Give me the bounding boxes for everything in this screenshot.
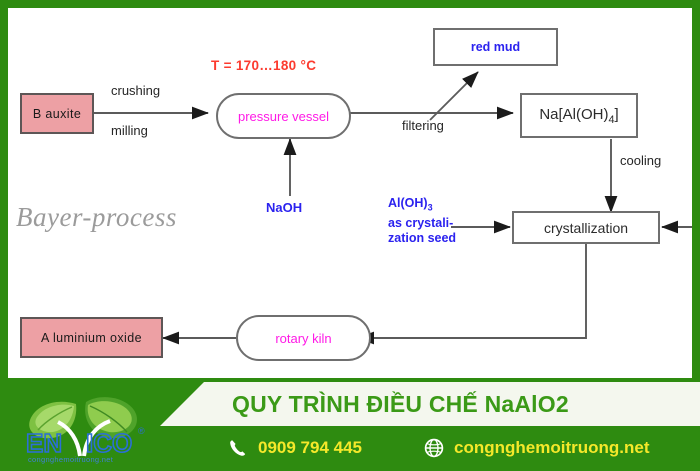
page-root: Bayer-process B auxite crushing milling … [0,0,700,467]
node-red-mud[interactable]: red mud [433,28,558,66]
logo-letters-left: EN [26,428,62,458]
label-filtering: filtering [402,118,444,133]
phone-icon [228,438,248,458]
label-naoh: NaOH [266,200,302,215]
node-crystallization[interactable]: crystallization [512,211,660,244]
envico-logo-graphic: EN ICO ® congnghemoitruong.net [14,382,162,466]
label-crystallization-seed: Al(OH)3 as crystali- zation seed [388,196,456,246]
diagram-canvas: Bayer-process B auxite crushing milling … [8,8,692,378]
seed-formula-sub: 3 [428,203,433,213]
edge-crystallization-to-rotary-kiln [358,243,586,338]
node-pressure-vessel[interactable]: pressure vessel [216,93,351,139]
logo-tagline: congnghemoitruong.net [28,455,114,464]
aluminate-formula-tail: ] [615,106,619,123]
node-aluminium-oxide[interactable]: A luminium oxide [20,317,163,358]
globe-icon [424,438,444,458]
seed-line-1: Al(OH)3 [388,196,456,216]
watermark-bayer-process: Bayer-process [16,202,177,233]
seed-line-3: zation seed [388,231,456,246]
node-bauxite-label: B auxite [33,107,81,121]
node-rotary-kiln[interactable]: rotary kiln [236,315,371,361]
seed-line-2: as crystali- [388,216,456,231]
website-contact[interactable]: congnghemoitruong.net [424,438,649,458]
label-temperature: T = 170…180 °C [211,58,316,73]
envico-logo[interactable]: EN ICO ® congnghemoitruong.net [14,382,162,466]
node-sodium-aluminate[interactable]: Na[Al(OH)4] [520,93,638,138]
banner-title: QUY TRÌNH ĐIỀU CHẾ NaAlO2 [232,391,569,418]
node-aluminium-oxide-label: A luminium oxide [41,331,142,345]
phone-contact[interactable]: 0909 794 445 [228,438,362,458]
node-bauxite[interactable]: B auxite [20,93,94,134]
bottom-banner: EN ICO ® congnghemoitruong.net QUY TRÌNH… [0,378,700,467]
logo-letters-right: ICO [86,428,132,458]
label-milling: milling [111,123,148,138]
aluminate-formula-main: Na[Al(OH) [539,106,608,123]
node-rotary-kiln-label: rotary kiln [275,331,331,346]
banner-title-band: QUY TRÌNH ĐIỀU CHẾ NaAlO2 [160,382,700,426]
logo-trademark-icon: ® [138,426,145,436]
node-red-mud-label: red mud [471,40,520,54]
banner-contact-row: 0909 794 445 congnghemoitruong.net [160,430,700,466]
seed-formula-main: Al(OH) [388,196,428,210]
phone-number: 0909 794 445 [258,438,362,458]
node-sodium-aluminate-label: Na[Al(OH)4] [539,106,618,126]
label-cooling: cooling [620,153,661,168]
node-pressure-vessel-label: pressure vessel [238,109,329,124]
label-crushing: crushing [111,83,160,98]
website-url: congnghemoitruong.net [454,438,649,458]
node-crystallization-label: crystallization [544,220,628,236]
